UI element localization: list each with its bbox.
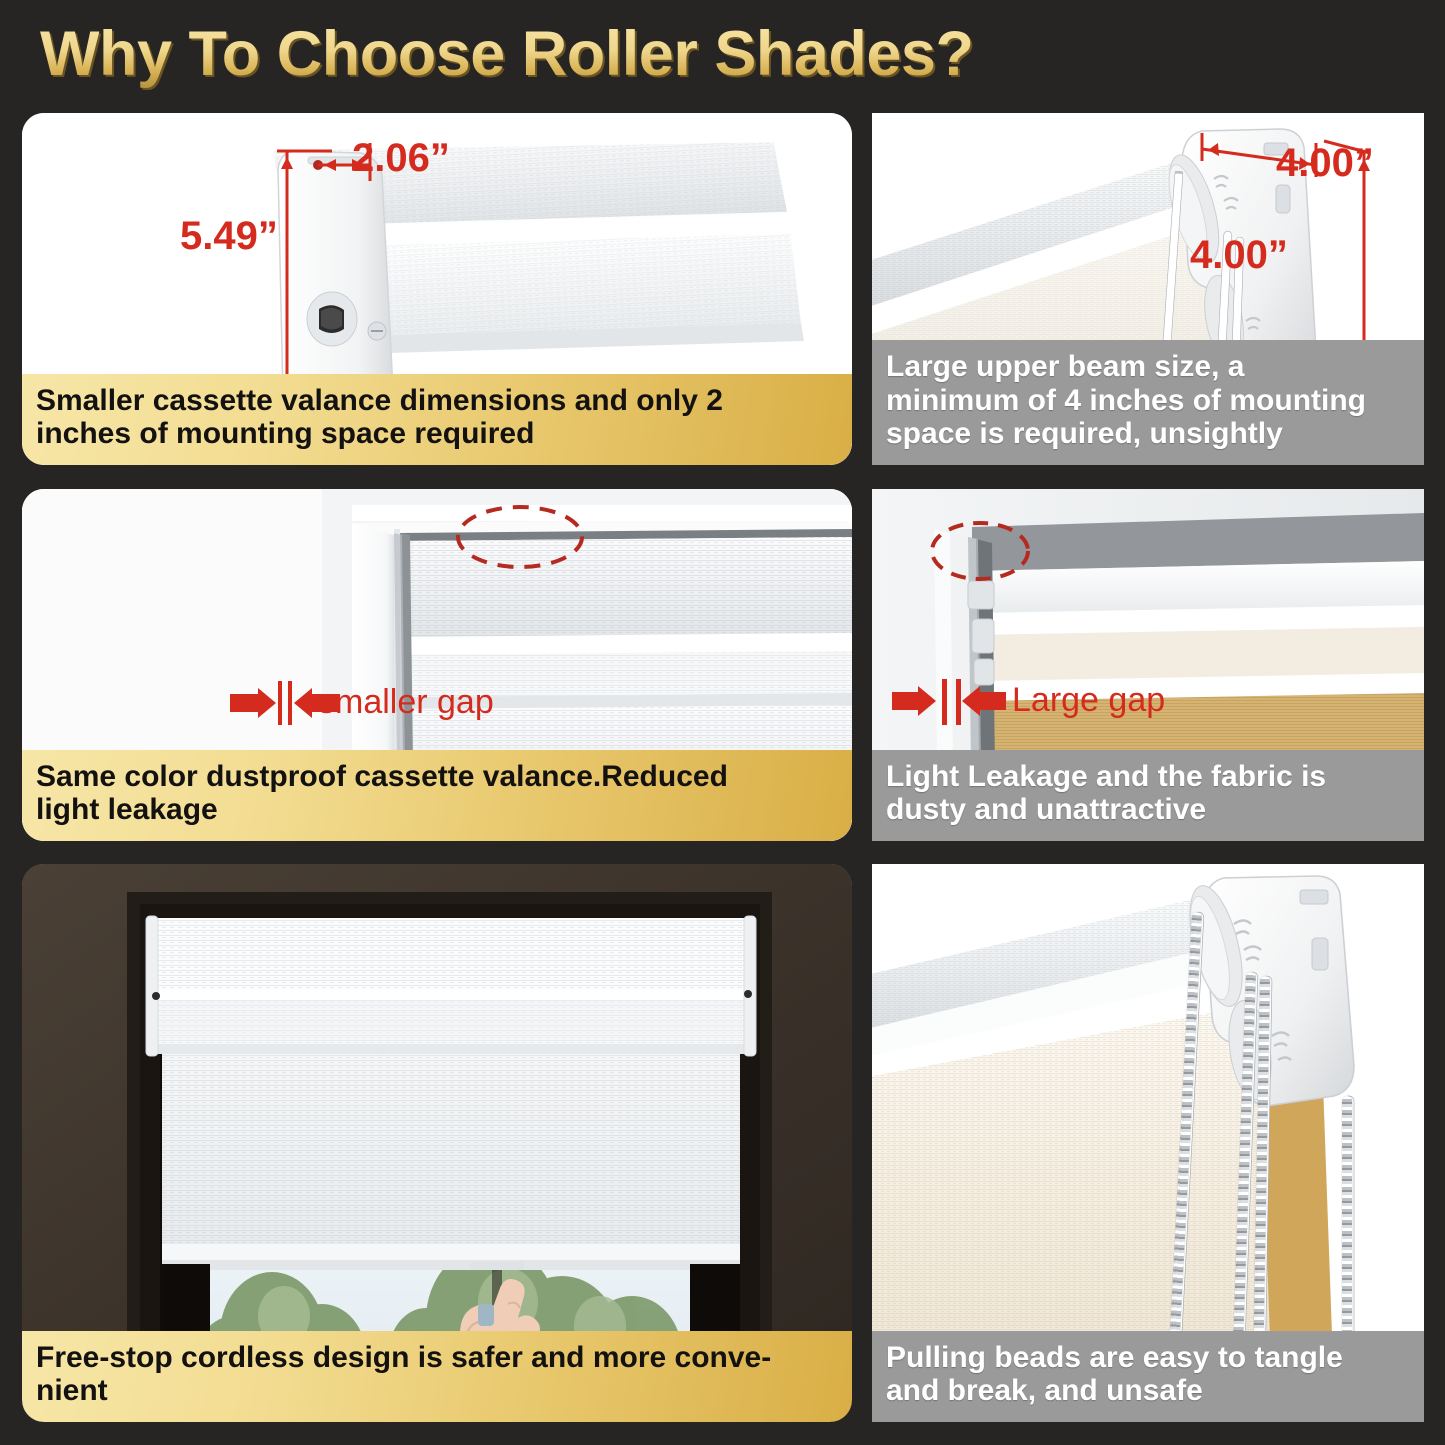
panel-free-stop-cordless: Free-stop cordless design is safer and m… <box>22 864 852 1422</box>
caption-line-1: Same color dustproof cassette valance.Re… <box>36 760 838 794</box>
caption-line-2: and break, and unsafe <box>886 1374 1410 1408</box>
caption-cassette-valance-dimensions: Smaller cassette valance dimensions and … <box>22 374 852 465</box>
dimension-label-height-4-00: 4.00” <box>1190 233 1288 278</box>
gap-label-large-gap: Large gap <box>1012 681 1165 720</box>
caption-line-1: Smaller cassette valance dimensions and … <box>36 384 838 418</box>
caption-light-leakage-dusty: Light Leakage and the fabric is dusty an… <box>872 750 1424 841</box>
caption-line-1: Large upper beam size, a <box>886 350 1410 384</box>
panel-large-upper-beam: 4.00” 4.00” Large upper beam size, a min… <box>872 113 1424 465</box>
caption-line-2: nient <box>36 1374 838 1408</box>
caption-free-stop-cordless: Free-stop cordless design is safer and m… <box>22 1331 852 1422</box>
gap-label-smaller-gap: smaller gap <box>318 683 494 722</box>
panel-light-leakage-dusty: Large gap Light Leakage and the fabric i… <box>872 489 1424 841</box>
dimension-label-width-4-00: 4.00” <box>1276 141 1374 186</box>
caption-line-1: Pulling beads are easy to tangle <box>886 1341 1410 1375</box>
page-title: Why To Choose Roller Shades? <box>40 18 973 90</box>
caption-line-1: Free-stop cordless design is safer and m… <box>36 1341 838 1375</box>
infographic-page: Why To Choose Roller Shades? Why To Choo… <box>0 0 1445 1445</box>
panel-dustproof-cassette-valance: smaller gap Same color dustproof cassett… <box>22 489 852 841</box>
caption-line-2: inches of mounting space required <box>36 417 838 451</box>
caption-line-2: minimum of 4 inches of mounting <box>886 384 1410 418</box>
panel-cassette-valance-dimensions: 2.06” 5.49” Smaller cassette valance dim… <box>22 113 852 465</box>
caption-line-1: Light Leakage and the fabric is <box>886 760 1410 794</box>
caption-large-upper-beam: Large upper beam size, a minimum of 4 in… <box>872 340 1424 465</box>
dimension-label-height-5-49: 5.49” <box>180 214 278 259</box>
caption-dustproof-cassette-valance: Same color dustproof cassette valance.Re… <box>22 750 852 841</box>
dimension-label-width-2-06: 2.06” <box>352 136 450 181</box>
panel-pulling-beads-unsafe: Pulling beads are easy to tangle and bre… <box>872 864 1424 1422</box>
caption-line-2: light leakage <box>36 793 838 827</box>
caption-line-3: space is required, unsightly <box>886 417 1410 451</box>
caption-pulling-beads-unsafe: Pulling beads are easy to tangle and bre… <box>872 1331 1424 1422</box>
caption-line-2: dusty and unattractive <box>886 793 1410 827</box>
